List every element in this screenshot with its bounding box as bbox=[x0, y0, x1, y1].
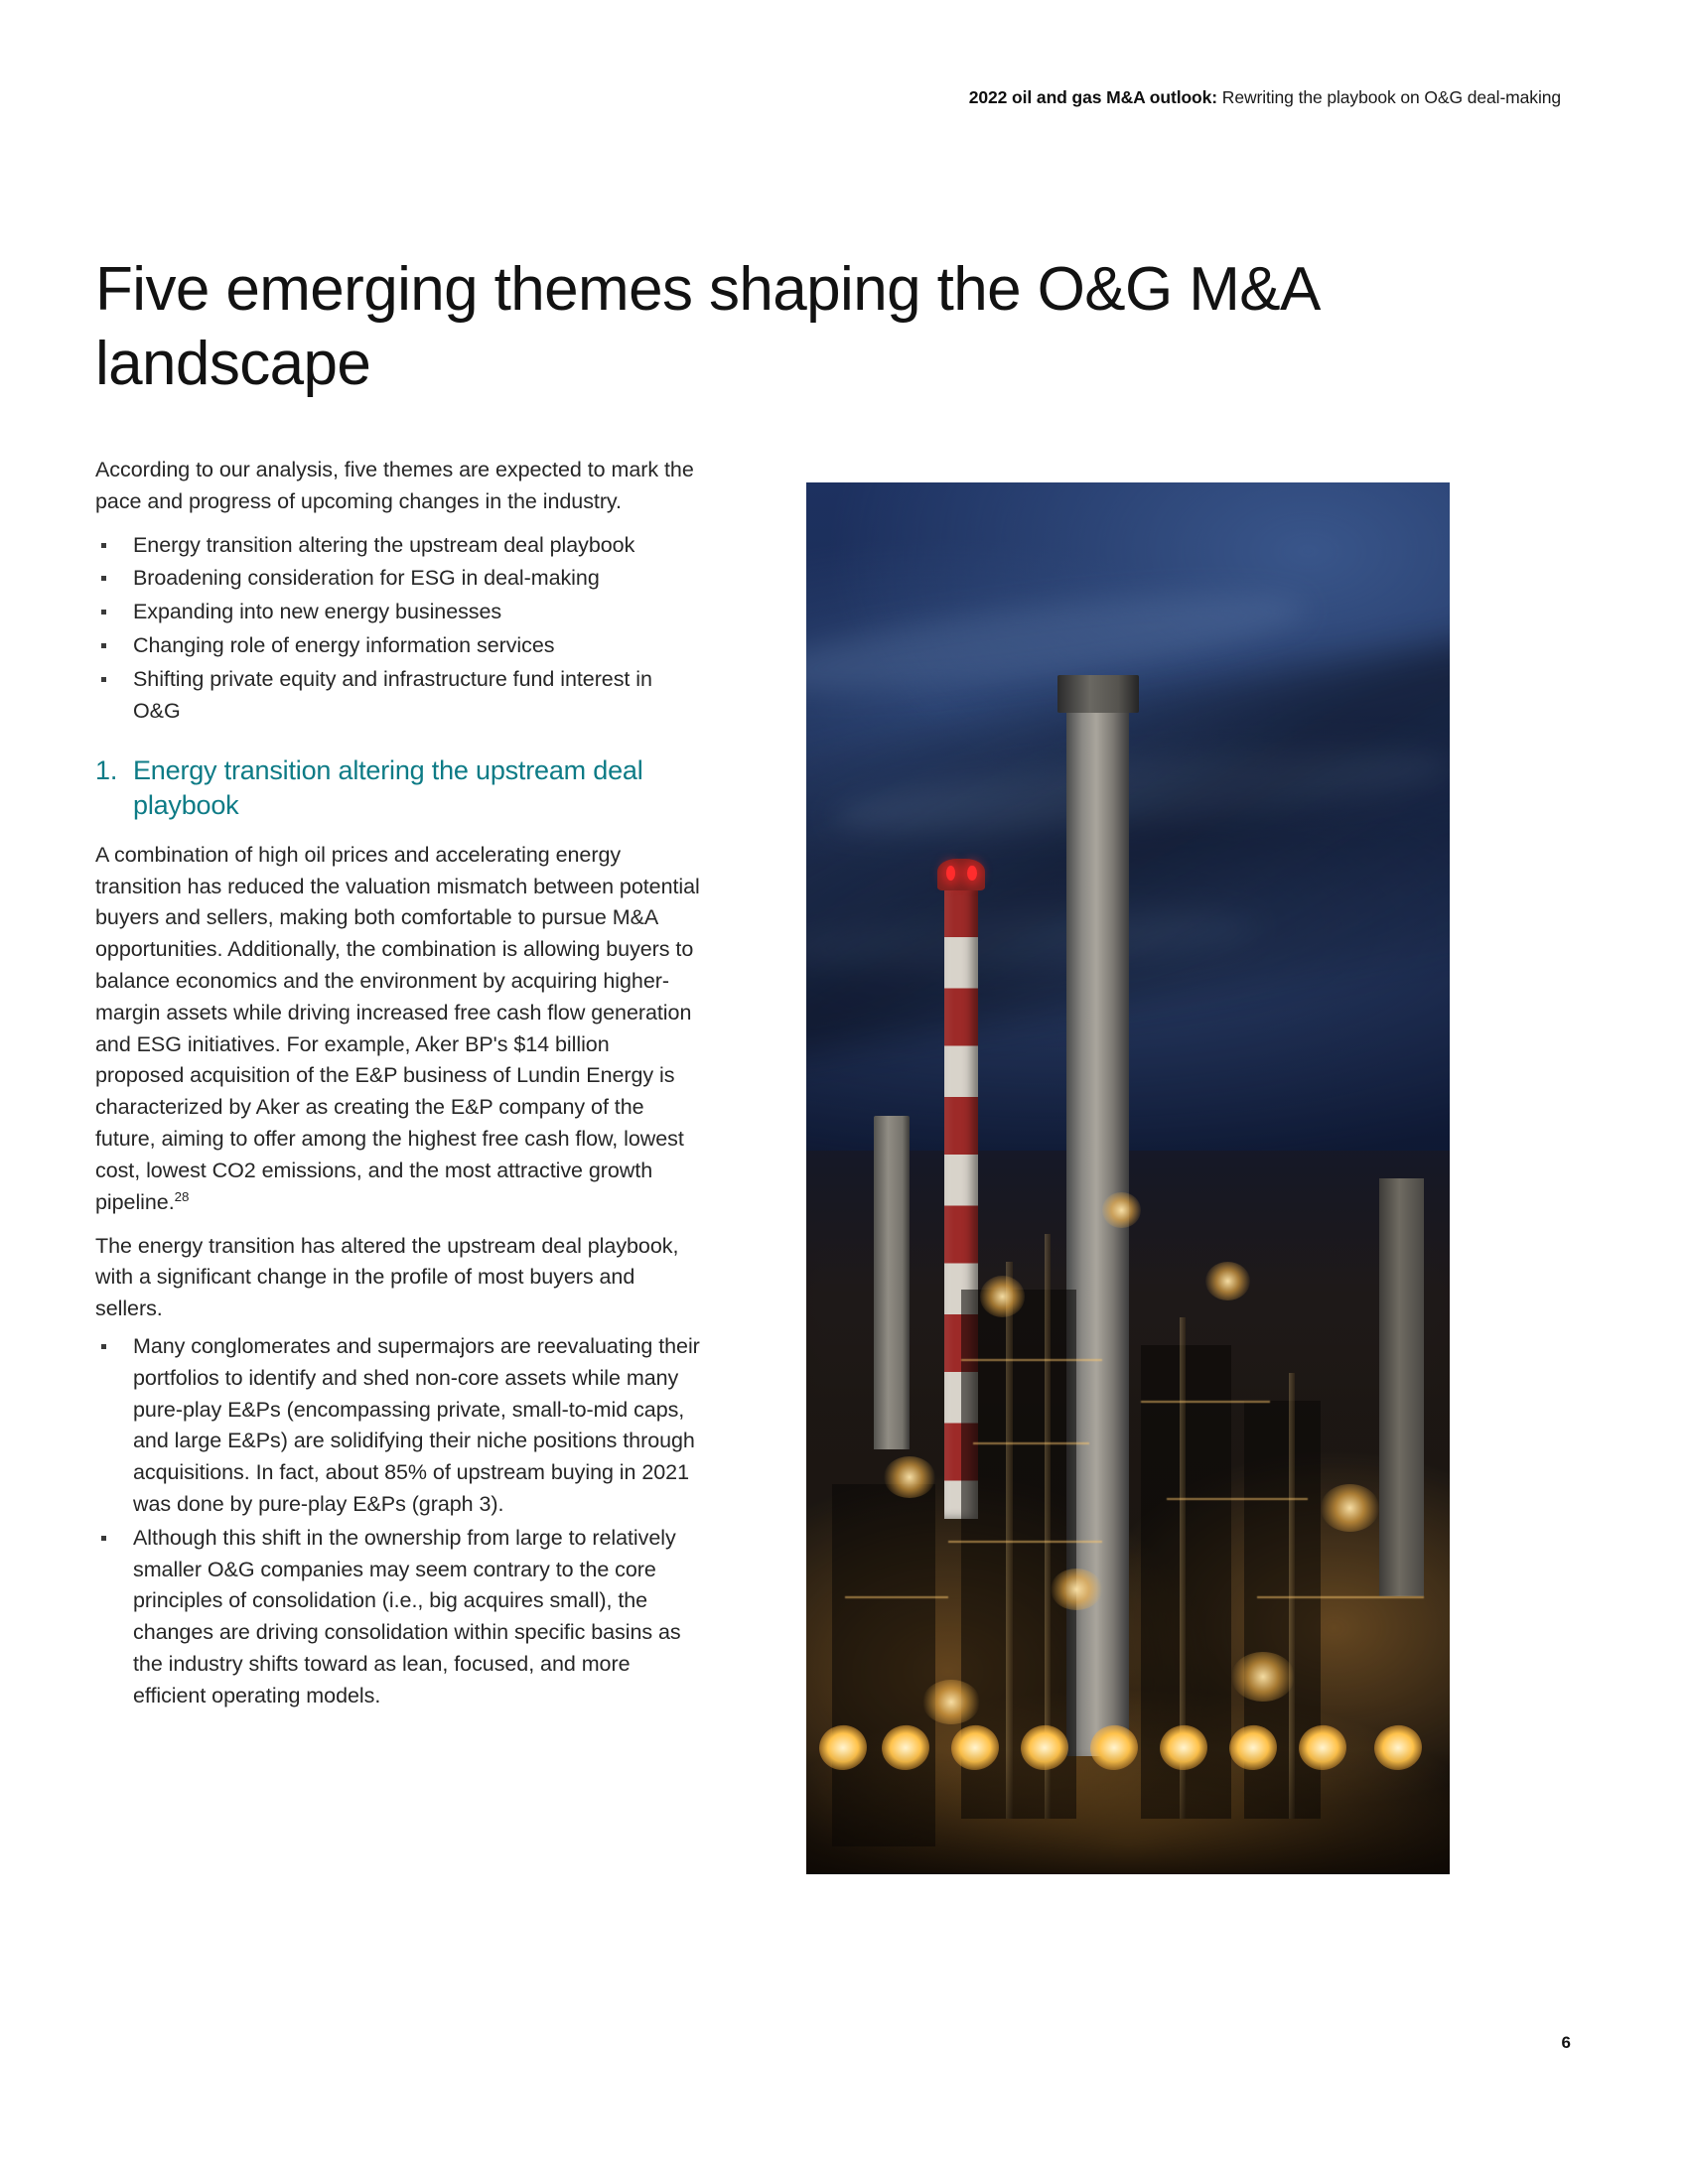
list-item-label: Energy transition altering the upstream … bbox=[133, 533, 634, 557]
running-header: 2022 oil and gas M&A outlook: Rewriting … bbox=[969, 87, 1561, 108]
bullet-square-icon bbox=[101, 543, 106, 548]
photo-bottom-shade bbox=[806, 1749, 1450, 1874]
theme-bullet-list: Energy transition altering the upstream … bbox=[95, 530, 701, 728]
bullet-square-icon bbox=[101, 677, 106, 682]
section-paragraph-1: A combination of high oil prices and acc… bbox=[95, 840, 701, 1219]
footnote-reference: 28 bbox=[175, 1189, 190, 1204]
photo-lit-walkway bbox=[961, 1359, 1103, 1361]
list-item: Shifting private equity and infrastructu… bbox=[95, 664, 701, 728]
list-item: Many conglomerates and supermajors are r… bbox=[95, 1331, 701, 1521]
list-item-label: Many conglomerates and supermajors are r… bbox=[133, 1334, 700, 1516]
refinery-night-photo bbox=[806, 482, 1450, 1874]
photo-lit-walkway bbox=[1141, 1401, 1270, 1403]
photo-lit-walkway bbox=[1257, 1596, 1424, 1598]
photo-lit-walkway bbox=[845, 1596, 948, 1598]
section-heading: 1.Energy transition altering the upstrea… bbox=[95, 753, 701, 824]
photo-right-tower bbox=[1379, 1178, 1424, 1596]
photo-light-glow bbox=[1321, 1484, 1378, 1532]
section-number: 1. bbox=[95, 753, 117, 789]
photo-light-glow bbox=[1051, 1569, 1102, 1610]
document-page: 2022 oil and gas M&A outlook: Rewriting … bbox=[0, 0, 1688, 2184]
photo-lit-walkway bbox=[973, 1442, 1089, 1444]
list-item-label: Changing role of energy information serv… bbox=[133, 633, 554, 657]
photo-red-light bbox=[967, 866, 977, 881]
bullet-square-icon bbox=[101, 1344, 106, 1349]
list-item-label: Expanding into new energy businesses bbox=[133, 600, 501, 623]
bullet-square-icon bbox=[101, 610, 106, 614]
page-number: 6 bbox=[1562, 2033, 1571, 2053]
list-item-label: Although this shift in the ownership fro… bbox=[133, 1526, 681, 1707]
page-title: Five emerging themes shaping the O&G M&A… bbox=[95, 252, 1416, 402]
section-paragraph-1-text: A combination of high oil prices and acc… bbox=[95, 843, 700, 1214]
running-header-subtitle: Rewriting the playbook on O&G deal-makin… bbox=[1217, 87, 1561, 107]
photo-light-glow bbox=[922, 1680, 980, 1724]
photo-chimney-warning-lights bbox=[937, 859, 986, 890]
list-item: Energy transition altering the upstream … bbox=[95, 530, 701, 562]
list-item: Expanding into new energy businesses bbox=[95, 597, 701, 628]
running-header-title: 2022 oil and gas M&A outlook: bbox=[969, 87, 1217, 107]
photo-secondary-stack bbox=[874, 1116, 910, 1449]
section-heading-label: Energy transition altering the upstream … bbox=[133, 755, 643, 821]
section-paragraph-2: The energy transition has altered the up… bbox=[95, 1231, 701, 1325]
photo-light-glow bbox=[1231, 1652, 1296, 1702]
photo-lit-walkway bbox=[1167, 1498, 1309, 1500]
detail-bullet-list: Many conglomerates and supermajors are r… bbox=[95, 1331, 701, 1712]
list-item-label: Broadening consideration for ESG in deal… bbox=[133, 566, 600, 590]
list-item: Broadening consideration for ESG in deal… bbox=[95, 563, 701, 595]
list-item: Changing role of energy information serv… bbox=[95, 630, 701, 662]
intro-paragraph: According to our analysis, five themes a… bbox=[95, 455, 701, 518]
photo-red-light bbox=[946, 866, 956, 881]
photo-lit-walkway bbox=[948, 1541, 1103, 1543]
list-item: Although this shift in the ownership fro… bbox=[95, 1523, 701, 1712]
bullet-square-icon bbox=[101, 576, 106, 581]
list-item-label: Shifting private equity and infrastructu… bbox=[133, 667, 652, 723]
bullet-square-icon bbox=[101, 1536, 106, 1541]
main-text-column: According to our analysis, five themes a… bbox=[95, 455, 701, 1722]
photo-light-glow bbox=[884, 1456, 935, 1498]
bullet-square-icon bbox=[101, 643, 106, 648]
